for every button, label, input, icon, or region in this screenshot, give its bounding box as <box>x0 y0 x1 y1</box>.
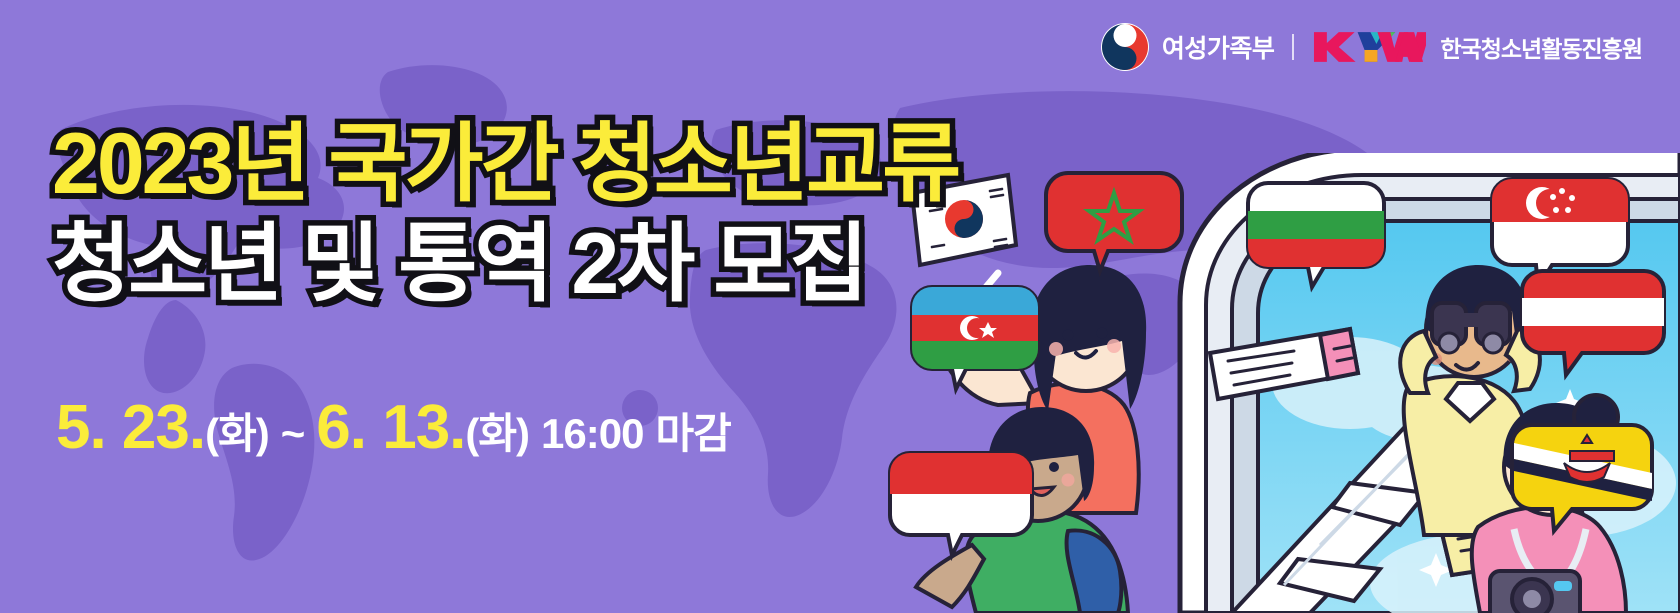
start-day: (화) <box>205 400 269 461</box>
end-date: 6. 13. <box>316 392 465 463</box>
illustration-scene <box>880 153 1680 613</box>
date-tilde: ~ <box>281 410 305 458</box>
taegeuk-emblem-icon <box>1100 22 1150 72</box>
deadline-time: 16:00 <box>541 410 643 458</box>
agency-logo[interactable]: 한국청소년활동진흥원 <box>1312 30 1642 64</box>
morocco-flag-bubble <box>1046 173 1182 271</box>
kywa-wordmark-icon <box>1312 30 1426 64</box>
agency-name: 한국청소년활동진흥원 <box>1440 30 1642 64</box>
dateline: 5. 23. (화) ~ 6. 13. (화) 16:00 마감 <box>56 392 731 463</box>
headline-block: 2023년 국가간 청소년교류 청소년 및 통역 2차 모집 <box>52 116 958 313</box>
start-date: 5. 23. <box>56 392 205 463</box>
camera-icon <box>1490 571 1580 613</box>
end-day: (화) <box>465 400 529 461</box>
deadline-label: 마감 <box>655 400 730 461</box>
logo-divider <box>1292 34 1294 60</box>
ministry-name: 여성가족부 <box>1162 29 1275 65</box>
ministry-logo[interactable]: 여성가족부 <box>1100 22 1275 72</box>
logo-bar: 여성가족부 한국청소년활동진흥원 <box>1100 22 1642 72</box>
promotional-banner: 여성가족부 한국청소년활동진흥원 2023년 국가간 청소년교류 청소년 및 통… <box>0 0 1680 613</box>
headline-line-2: 청소년 및 통역 2차 모집 <box>52 216 958 312</box>
headline-line-1: 2023년 국가간 청소년교류 <box>52 116 958 212</box>
